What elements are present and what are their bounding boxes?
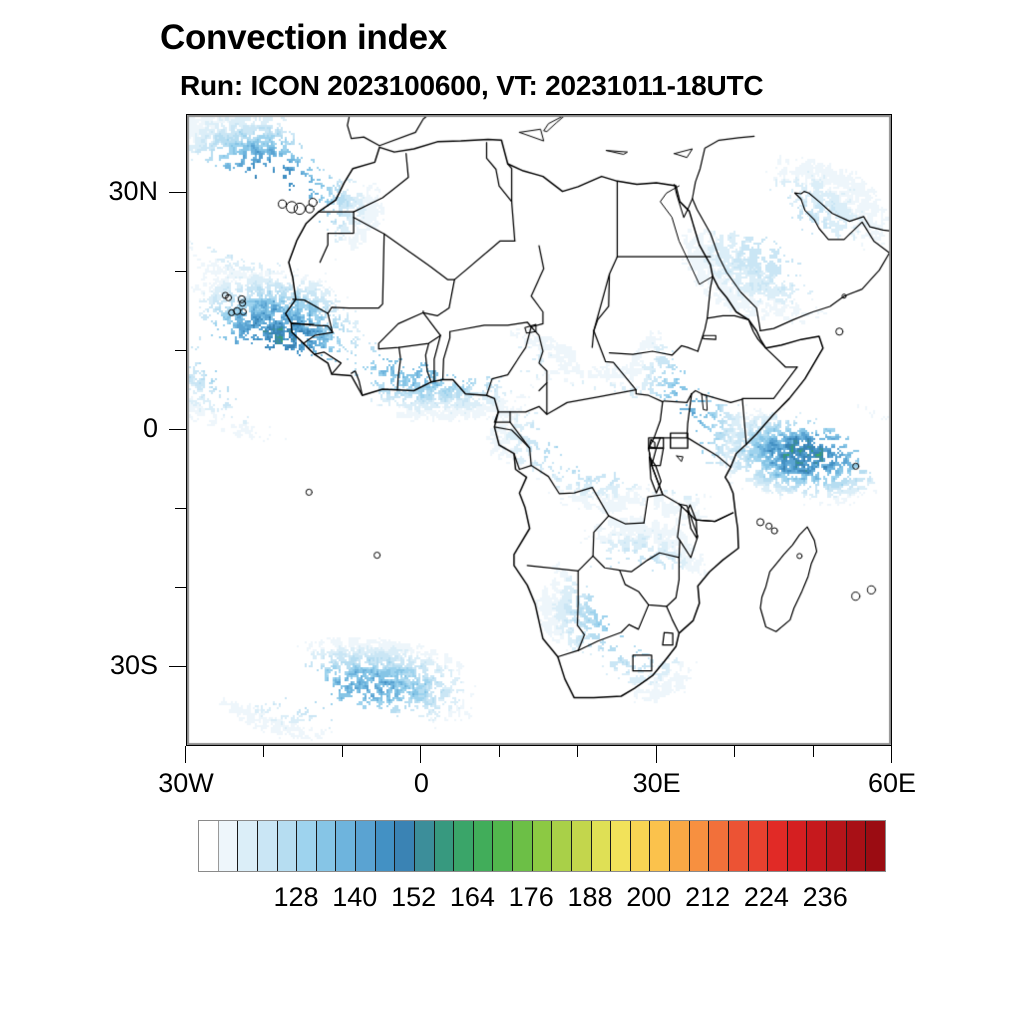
colorbar-cell-8 [356, 821, 376, 871]
y-axis-label-0: 0 [0, 413, 158, 444]
colorbar-label-152: 152 [391, 882, 436, 913]
colorbar-cell-17 [533, 821, 553, 871]
x-tick-20 [577, 746, 578, 757]
colorbar-cell-23 [650, 821, 670, 871]
colorbar-cell-29 [768, 821, 788, 871]
colorbar-label-224: 224 [744, 882, 789, 913]
colorbar-cell-30 [788, 821, 808, 871]
y-tick-30S [169, 666, 186, 667]
colorbar-cell-15 [493, 821, 513, 871]
colorbar-cell-34 [866, 821, 885, 871]
colorbar-cell-2 [238, 821, 258, 871]
colorbar-label-200: 200 [626, 882, 671, 913]
colorbar-cell-32 [827, 821, 847, 871]
colorbar-cell-19 [572, 821, 592, 871]
y-tick-10 [175, 350, 186, 351]
colorbar-cell-24 [670, 821, 690, 871]
colorbar-label-188: 188 [567, 882, 612, 913]
colorbar-cell-16 [513, 821, 533, 871]
colorbar-label-212: 212 [685, 882, 730, 913]
map-plot-area [186, 114, 892, 746]
colorbar-cell-28 [749, 821, 769, 871]
y-tick-30N [169, 192, 186, 193]
page-title: Convection index [160, 18, 447, 58]
colorbar-cell-18 [552, 821, 572, 871]
colorbar-cell-12 [435, 821, 455, 871]
colorbar-label-176: 176 [509, 882, 554, 913]
colorbar-cell-25 [690, 821, 710, 871]
y-axis-label-30S: 30S [0, 650, 158, 681]
colorbar-label-140: 140 [332, 882, 377, 913]
x-tick-30W [185, 746, 186, 763]
colorbar-cell-26 [709, 821, 729, 871]
x-tick-30E [656, 746, 657, 763]
y-tick-0 [169, 429, 186, 430]
colorbar-cell-21 [611, 821, 631, 871]
colorbar-label-236: 236 [803, 882, 848, 913]
colorbar-label-128: 128 [273, 882, 318, 913]
y-tick-20 [175, 271, 186, 272]
colorbar-cell-9 [376, 821, 396, 871]
colorbar-cell-10 [395, 821, 415, 871]
x-tick-60E [891, 746, 892, 763]
colorbar-cell-1 [219, 821, 239, 871]
colorbar-cell-27 [729, 821, 749, 871]
x-axis-label-30E: 30E [633, 768, 681, 799]
colorbar-cell-14 [474, 821, 494, 871]
colorbar-tick-labels: 128140152164176188200212224236 [198, 882, 884, 916]
colorbar-cell-6 [317, 821, 337, 871]
x-tick-50 [813, 746, 814, 757]
x-tick-10 [499, 746, 500, 757]
colorbar [198, 820, 886, 872]
colorbar-cell-33 [847, 821, 867, 871]
x-tick-40 [734, 746, 735, 757]
x-tick-0 [420, 746, 421, 763]
y-tick--20 [175, 587, 186, 588]
colorbar-cell-3 [258, 821, 278, 871]
x-tick--20 [263, 746, 264, 757]
map-raster [187, 115, 891, 745]
colorbar-cell-4 [278, 821, 298, 871]
page-subtitle: Run: ICON 2023100600, VT: 20231011-18UTC [180, 70, 763, 102]
x-axis-label-60E: 60E [868, 768, 916, 799]
colorbar-cell-20 [592, 821, 612, 871]
colorbar-cell-7 [336, 821, 356, 871]
colorbar-label-164: 164 [450, 882, 495, 913]
colorbar-cell-11 [415, 821, 435, 871]
y-axis-label-30N: 30N [0, 176, 158, 207]
x-axis-label-0: 0 [414, 768, 429, 799]
colorbar-cell-0 [199, 821, 219, 871]
x-tick--10 [342, 746, 343, 757]
colorbar-cell-22 [631, 821, 651, 871]
x-axis-label-30W: 30W [158, 768, 214, 799]
colorbar-cell-13 [454, 821, 474, 871]
colorbar-cell-5 [297, 821, 317, 871]
y-tick--10 [175, 508, 186, 509]
colorbar-cell-31 [807, 821, 827, 871]
